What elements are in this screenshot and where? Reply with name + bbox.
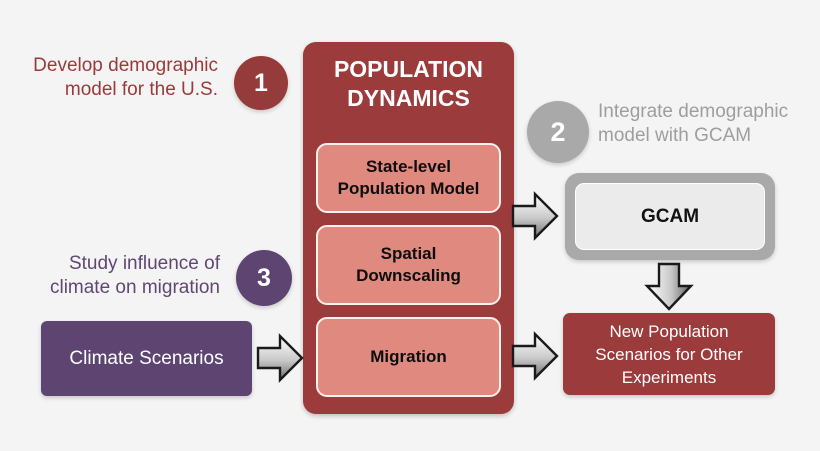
arrow-right-icon-migration-to-new-population [511, 330, 559, 382]
gcam-box: GCAM [565, 173, 775, 260]
spatial-downscaling-box: Spatial Downscaling [316, 225, 501, 305]
step-3-number-badge: 3 [236, 250, 292, 306]
step-2-number-badge: 2 [527, 101, 589, 163]
migration-box: Migration [316, 317, 501, 397]
diagram-canvas: Develop demographic model for the U.S. 1… [0, 0, 820, 451]
step-3-callout-text: Study influence of climate on migration [8, 252, 220, 300]
step-2-callout-text: Integrate demographic model with GCAM [598, 100, 816, 148]
population-dynamics-title: POPULATION DYNAMICS [303, 55, 514, 113]
arrow-right-icon-climate-to-migration [256, 332, 304, 384]
gcam-label: GCAM [575, 183, 765, 250]
new-population-scenarios-box: New Population Scenarios for Other Exper… [563, 313, 775, 395]
climate-scenarios-box: Climate Scenarios [41, 321, 252, 396]
step-1-callout-text: Develop demographic model for the U.S. [6, 54, 218, 102]
step-1-number-badge: 1 [234, 56, 288, 110]
arrow-right-icon-model-to-gcam [511, 190, 559, 242]
state-level-population-model-box: State-level Population Model [316, 143, 501, 213]
arrow-down-icon-gcam-to-new-population [643, 262, 695, 312]
population-dynamics-panel: POPULATION DYNAMICS State-level Populati… [303, 42, 514, 414]
